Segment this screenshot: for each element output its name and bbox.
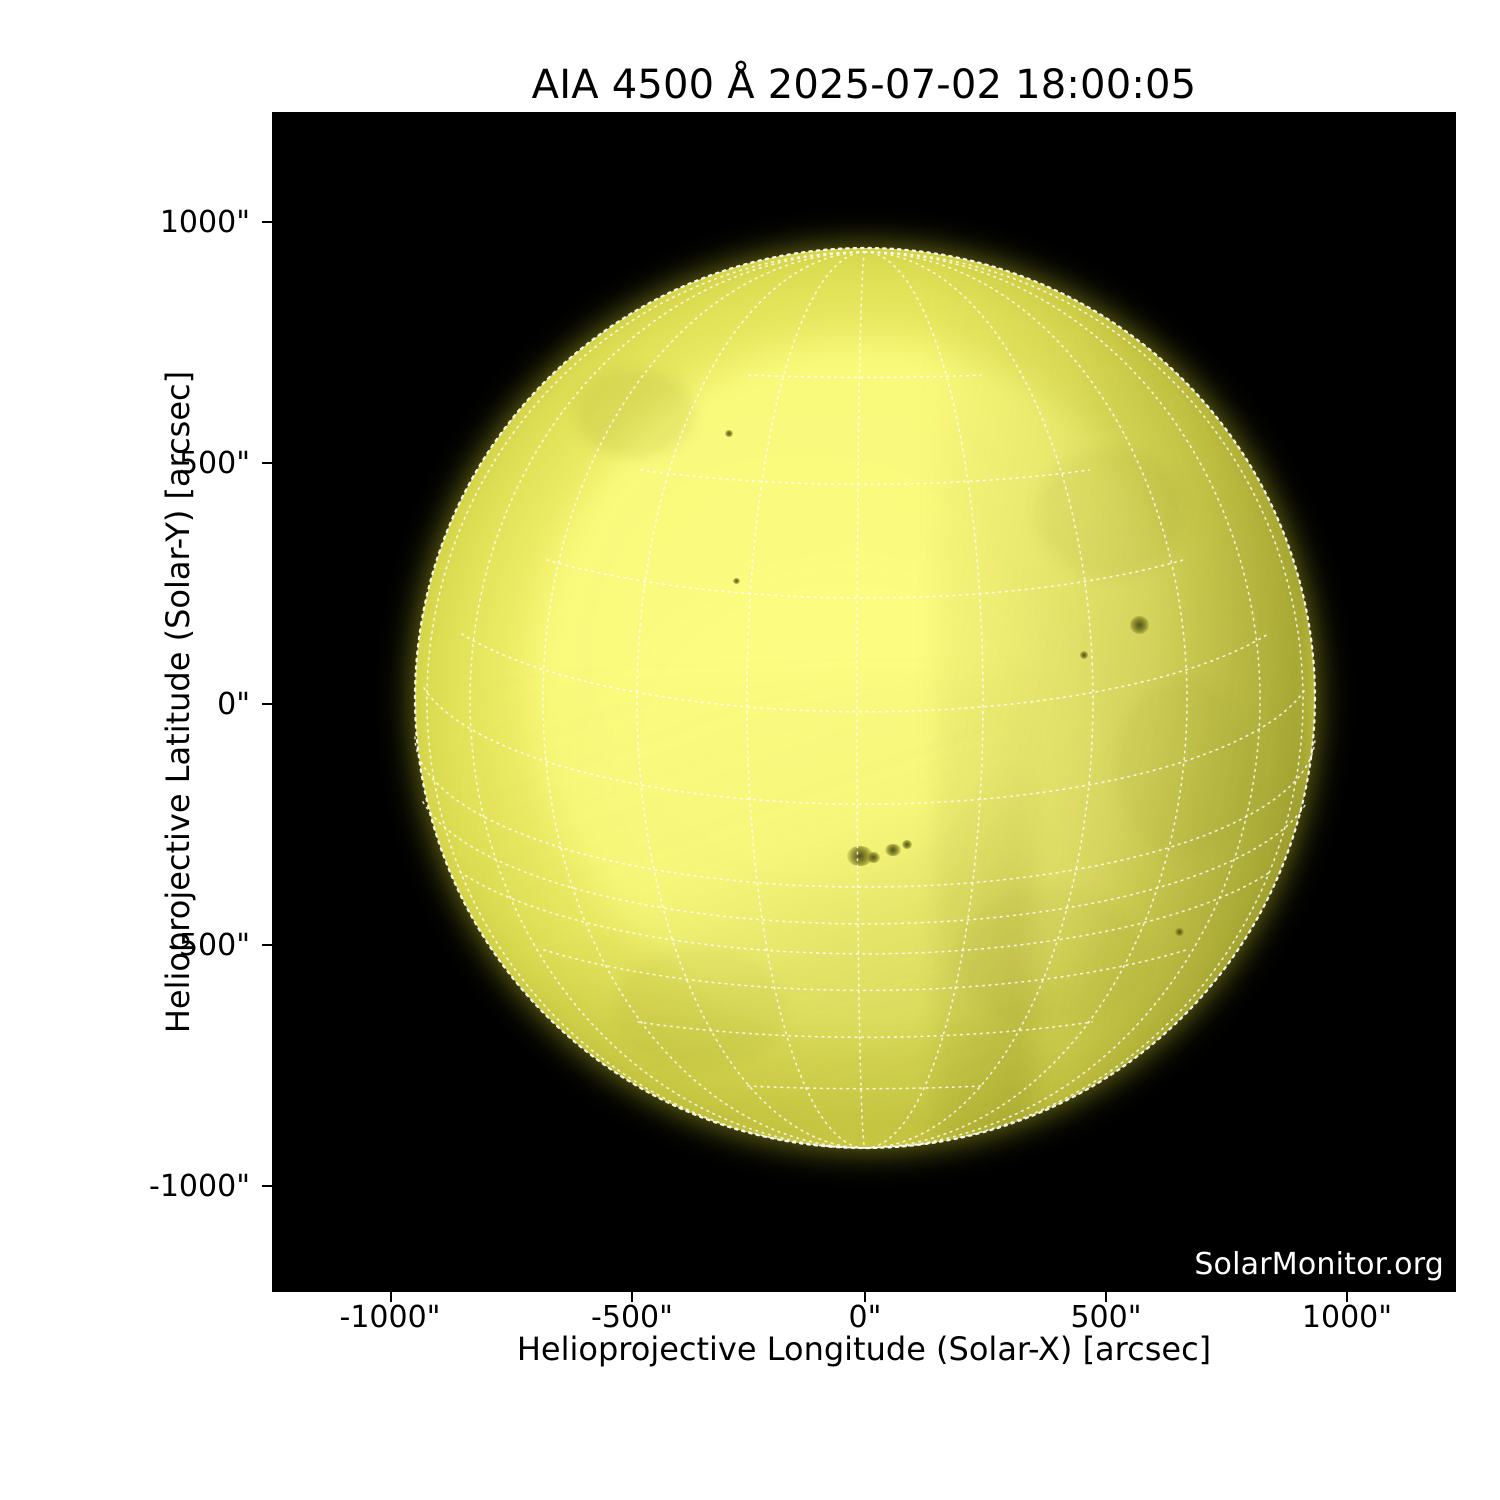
grid-parallel-60N — [641, 470, 1089, 484]
x-axis-label: Helioprojective Longitude (Solar-X) [arc… — [272, 1330, 1456, 1368]
grid-parallel-60S — [638, 1022, 1092, 1037]
ytick-label-neg1000: -1000" — [0, 1169, 250, 1204]
grid-parallel-75S — [748, 1086, 982, 1089]
ytick-mark-neg500 — [262, 944, 272, 946]
solar-limb — [415, 248, 1315, 1148]
ytick-label-1000: 1000" — [0, 205, 250, 240]
solar-image-figure: AIA 4500 Å 2025-07-02 18:00:05 — [0, 0, 1500, 1500]
grid-parallel-45N — [547, 560, 1183, 598]
grid-meridian-75E — [427, 252, 865, 1148]
watermark: SolarMonitor.org — [1194, 1247, 1444, 1282]
plot-area[interactable]: SolarMonitor.org — [272, 112, 1456, 1292]
ytick-mark-1000 — [262, 221, 272, 223]
ytick-label-0: 0" — [0, 687, 250, 722]
grid-meridian-45W — [865, 252, 1187, 1148]
grid-meridian-15W — [865, 252, 983, 1148]
grid-meridian-0 — [857, 252, 865, 1148]
heliographic-grid — [272, 112, 1456, 1292]
grid-meridian-45E — [543, 252, 865, 1148]
ytick-mark-0 — [262, 703, 272, 705]
y-axis-label: Helioprojective Latitude (Solar-Y) [arcs… — [150, 112, 206, 1292]
grid-parallel-45S — [544, 950, 1186, 990]
grid-meridian-60E — [470, 252, 865, 1148]
ytick-mark-500 — [262, 462, 272, 464]
grid-meridian-75W — [865, 252, 1303, 1148]
ytick-mark-neg1000 — [262, 1185, 272, 1187]
grid-parallel-15N — [424, 688, 1306, 804]
ytick-label-500: 500" — [0, 446, 250, 481]
grid-parallel-0 — [415, 737, 1315, 887]
grid-meridian-30E — [637, 252, 865, 1148]
page-title: AIA 4500 Å 2025-07-02 18:00:05 — [272, 62, 1456, 108]
grid-parallel-30N — [462, 634, 1268, 712]
grid-parallel-15S — [423, 802, 1307, 924]
grid-parallel-75N — [749, 375, 981, 377]
grid-meridian-15E — [747, 252, 865, 1148]
ytick-label-neg500: -500" — [0, 928, 250, 963]
grid-meridian-30W — [865, 252, 1093, 1148]
grid-meridian-60W — [865, 252, 1260, 1148]
